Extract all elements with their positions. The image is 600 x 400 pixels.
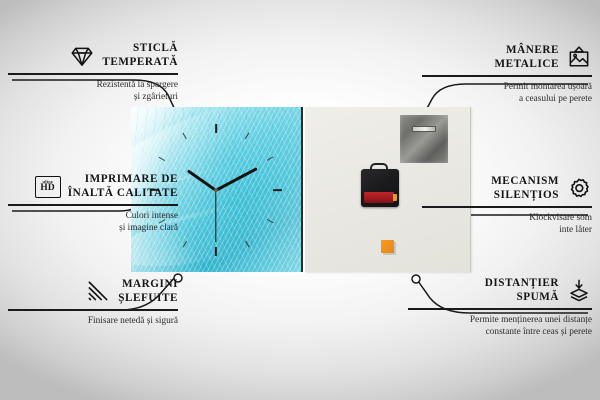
callout-description: Culori intenseși imagine clară	[8, 210, 178, 234]
product-image	[131, 107, 471, 272]
callout-rule	[422, 206, 592, 207]
gear-icon	[566, 176, 592, 202]
callout-rule	[8, 309, 178, 310]
callout-rule	[8, 73, 178, 74]
callout-high-quality-print: ultra HD IMPRIMARE DEÎNALTĂ CALITATE Cul…	[8, 173, 178, 234]
clock-hub	[214, 188, 218, 192]
callout-header: DISTANȚIERSPUMĂ	[408, 277, 592, 304]
clock-tick	[267, 218, 274, 223]
quartz-mechanism-box	[361, 169, 399, 207]
callout-header: STICLĂTEMPERATĂ	[8, 42, 178, 69]
callout-title: MECANISMSILENȚIOS	[491, 175, 559, 202]
callout-title: MARGINIȘLEFUITE	[118, 278, 178, 305]
callout-description: Rezistentă la spargereși zgârieturi	[8, 79, 178, 103]
beveled-edge-icon	[85, 279, 111, 305]
mechanism-hook	[370, 163, 388, 172]
callout-title: MÂNEREMETALICE	[495, 44, 560, 71]
hanger-slot	[412, 126, 436, 132]
metal-hanger-plate	[400, 115, 448, 163]
callout-header: ultra HD IMPRIMARE DEÎNALTĂ CALITATE	[8, 173, 178, 200]
battery-terminal	[393, 194, 397, 201]
clock-tick	[215, 124, 217, 133]
clock-tick	[182, 132, 187, 139]
callout-title: STICLĂTEMPERATĂ	[102, 42, 178, 69]
clock-hour-hand	[187, 169, 217, 191]
callout-description: Permit montarea ușoarăa ceasului pe pere…	[422, 81, 592, 105]
infographic-canvas: STICLĂTEMPERATĂ Rezistentă la spargereși…	[0, 0, 600, 400]
clock-tick	[267, 156, 274, 161]
callout-header: MÂNEREMETALICE	[422, 44, 592, 71]
clock-tick	[215, 247, 217, 256]
wall-frame-icon	[566, 45, 592, 71]
callout-polished-edges: MARGINIȘLEFUITE Finisare netedă și sigur…	[8, 278, 178, 327]
callout-header: MECANISMSILENȚIOS	[422, 175, 592, 202]
diamond-icon	[69, 43, 95, 69]
callout-description: Permite menținerea unei distanțeconstant…	[408, 314, 592, 338]
callout-tempered-glass: STICLĂTEMPERATĂ Rezistentă la spargereși…	[8, 42, 178, 103]
foam-spacer	[381, 240, 394, 253]
clock-tick	[159, 156, 166, 161]
clock-tick	[245, 132, 250, 139]
clock-tick	[245, 240, 250, 247]
ultra-hd-icon: ultra HD	[35, 176, 61, 198]
clock-tick	[182, 240, 187, 247]
callout-rule	[8, 204, 178, 205]
battery	[364, 192, 394, 203]
callout-rule	[422, 75, 592, 76]
callout-title: IMPRIMARE DEÎNALTĂ CALITATE	[68, 173, 178, 200]
ultra-hd-large-text: HD	[40, 184, 55, 193]
callout-header: MARGINIȘLEFUITE	[8, 278, 178, 305]
clock-minute-hand	[215, 167, 257, 191]
callout-rule	[408, 308, 592, 309]
callout-silent-mechanism: MECANISMSILENȚIOS Klockvisare sominte lå…	[422, 175, 592, 236]
callout-foam-spacer: DISTANȚIERSPUMĂ Permite menținerea unei …	[408, 277, 592, 338]
clock-second-hand	[215, 190, 216, 242]
callout-description: Klockvisare sominte låter	[422, 212, 592, 236]
press-down-layers-icon	[566, 278, 592, 304]
callout-metal-handles: MÂNEREMETALICE Permit montarea ușoarăa c…	[422, 44, 592, 105]
clock-tick	[273, 189, 282, 191]
callout-description: Finisare netedă și sigură	[8, 315, 178, 327]
callout-title: DISTANȚIERSPUMĂ	[485, 277, 559, 304]
